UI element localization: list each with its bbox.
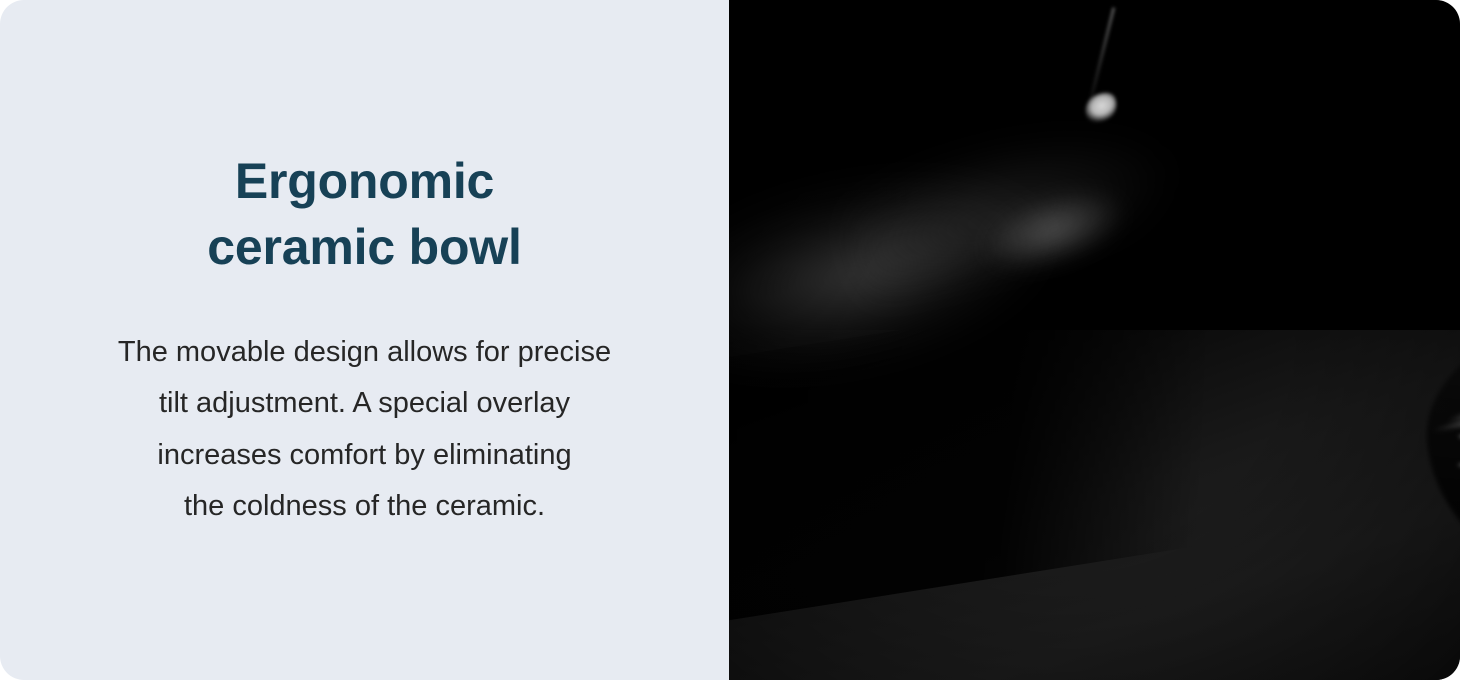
feature-card: Ergonomic ceramic bowl The movable desig…: [0, 0, 1460, 680]
body-description: The movable design allows for precise ti…: [118, 327, 611, 533]
backdrop-glow-left: [729, 138, 1074, 411]
ceramic-highlight-1b: [1431, 370, 1460, 435]
page-title: Ergonomic ceramic bowl: [207, 148, 521, 280]
ceramic-highlight-1: [1445, 330, 1460, 428]
highlight-sliver-line: [1086, 7, 1116, 114]
text-panel: Ergonomic ceramic bowl The movable desig…: [0, 0, 729, 680]
matte-surface: [729, 330, 1460, 680]
glossy-ceramic-body: [1415, 278, 1460, 622]
highlight-sliver-blob: [1080, 88, 1123, 128]
backdrop-glow-mid: [839, 97, 1189, 303]
photo-vignette: [729, 0, 1460, 680]
product-photo: [729, 0, 1460, 680]
surface-edge-shadow: [729, 234, 1460, 625]
ceramic-highlight-2: [1451, 420, 1460, 461]
backdrop-glow-spot: [972, 174, 1136, 287]
